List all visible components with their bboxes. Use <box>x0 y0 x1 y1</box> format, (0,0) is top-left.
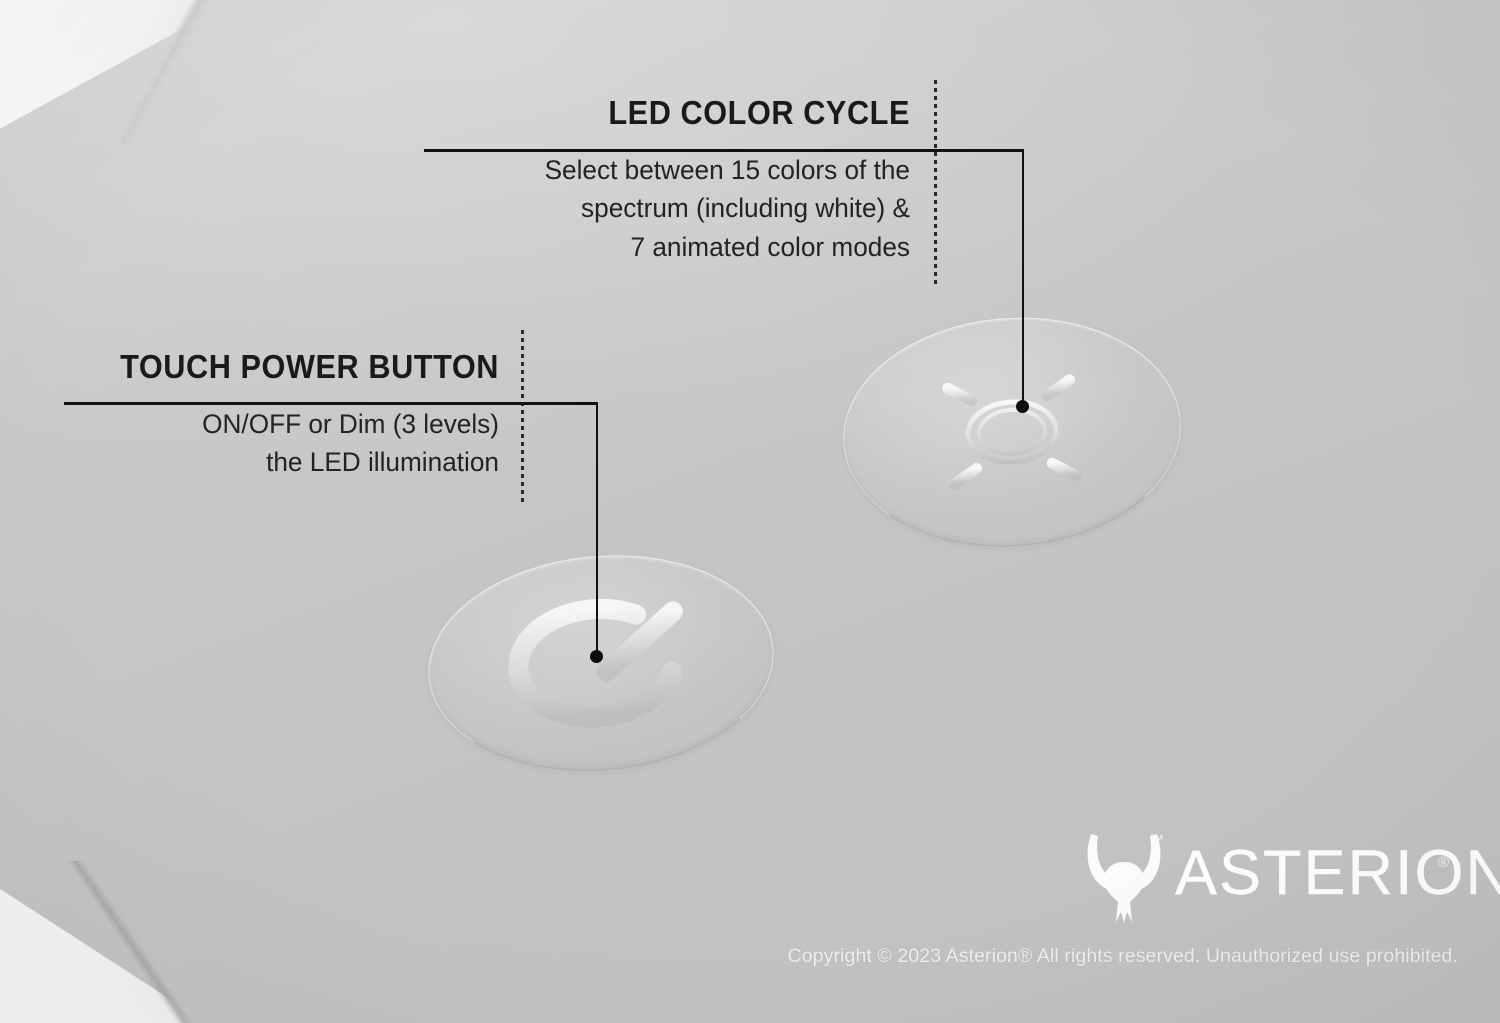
infographic-canvas: LED COLOR CYCLE Select between 15 colors… <box>0 0 1500 1023</box>
callout-led-rule <box>424 149 1024 152</box>
callout-title: TOUCH POWER BUTTON <box>105 350 499 383</box>
callout-power-divider <box>521 330 524 506</box>
callout-power-rule <box>64 402 598 405</box>
product-edge-top-left-highlight <box>0 0 260 144</box>
led-touch-pad[interactable] <box>835 306 1188 557</box>
registered-mark: ® <box>1438 854 1449 871</box>
power-icon <box>419 541 782 784</box>
callout-touch-power-button: TOUCH POWER BUTTON ON/OFF or Dim (3 leve… <box>75 350 499 482</box>
brand-wordmark: ASTERION <box>1175 842 1500 905</box>
callout-power-leader-dot <box>590 650 603 663</box>
callout-led-color-cycle: LED COLOR CYCLE Select between 15 colors… <box>424 96 910 266</box>
callout-body: ON/OFF or Dim (3 levels) the LED illumin… <box>88 405 499 482</box>
callout-title: LED COLOR CYCLE <box>458 96 910 129</box>
product-edge-bottom-left-shadow <box>0 861 230 1023</box>
power-touch-pad[interactable] <box>419 541 782 784</box>
callout-led-divider <box>934 80 937 286</box>
copyright-notice: Copyright © 2023 Asterion® All rights re… <box>0 945 1458 968</box>
trademark-mark: ™ <box>1149 832 1165 849</box>
sun-icon <box>835 306 1188 557</box>
callout-led-leader-dot <box>1016 400 1029 413</box>
brand-lockup: ™ ASTERION ® <box>1083 828 1463 932</box>
callout-led-leader <box>1022 149 1024 407</box>
callout-power-leader <box>596 402 598 657</box>
callout-body: Select between 15 colors of the spectrum… <box>439 151 910 266</box>
